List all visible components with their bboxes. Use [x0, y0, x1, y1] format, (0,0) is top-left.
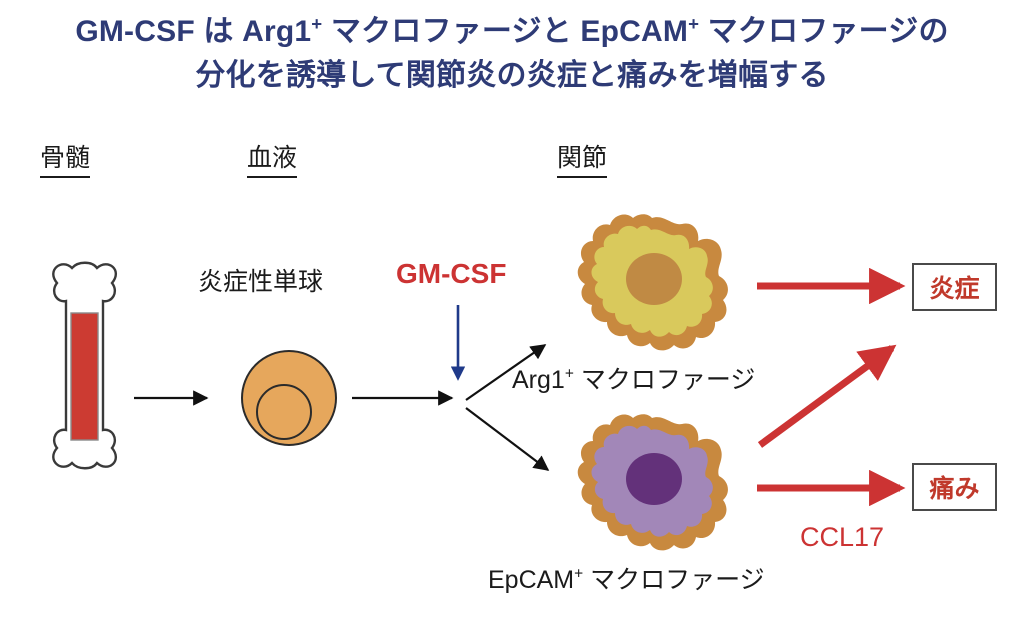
arg1-macrophage-icon [578, 214, 728, 350]
arrow-branch-to-epcam [466, 408, 548, 470]
column-header-joint: 関節 [557, 138, 607, 178]
gm-csf-label: GM-CSF [396, 258, 506, 290]
epcam-macrophage-label-suffix: マクロファージ [583, 566, 764, 594]
page-title: GM-CSF は Arg1+ マクロファージと EpCAM+ マクロファージの … [0, 10, 1024, 98]
title-superscript-1: + [311, 13, 322, 34]
outcome-box-inflammation: 炎症 [912, 263, 997, 311]
title-superscript-2: + [688, 13, 699, 34]
monocyte-label: 炎症性単球 [198, 262, 323, 298]
epcam-nucleus [626, 453, 682, 505]
epcam-superscript: + [574, 566, 583, 583]
bone-marrow-region [71, 313, 98, 440]
epcam-macrophage-label-prefix: EpCAM [488, 566, 574, 594]
epcam-macrophage-label: EpCAM+ マクロファージ [488, 560, 765, 596]
title-line-2: 分化を誘導して関節炎の炎症と痛みを増幅する [0, 54, 1024, 98]
arg1-macrophage-label-prefix: Arg1 [512, 366, 565, 394]
title-line-1-mid: マクロファージと EpCAM [322, 15, 688, 48]
arrow-epcam-to-inflammation [760, 348, 892, 445]
title-line-1: GM-CSF は Arg1+ マクロファージと EpCAM+ マクロファージの [0, 10, 1024, 54]
title-line-1-prefix: GM-CSF は Arg1 [75, 15, 311, 48]
column-header-blood: 血液 [247, 138, 297, 178]
monocyte-icon [242, 351, 336, 445]
arg1-macrophage-label: Arg1+ マクロファージ [512, 360, 755, 396]
epcam-macrophage-icon [578, 414, 728, 550]
title-line-1-suffix: マクロファージの [699, 15, 949, 48]
column-header-bone-marrow: 骨髄 [40, 138, 90, 178]
monocyte-nucleus [257, 385, 311, 439]
arg1-nucleus [626, 253, 682, 305]
arg1-macrophage-label-suffix: マクロファージ [574, 366, 755, 394]
bone-icon [53, 263, 116, 469]
diagram-canvas: GM-CSF は Arg1+ マクロファージと EpCAM+ マクロファージの … [0, 0, 1024, 619]
arg1-superscript: + [565, 366, 574, 383]
ccl17-label: CCL17 [800, 522, 884, 553]
outcome-box-pain: 痛み [912, 463, 997, 511]
